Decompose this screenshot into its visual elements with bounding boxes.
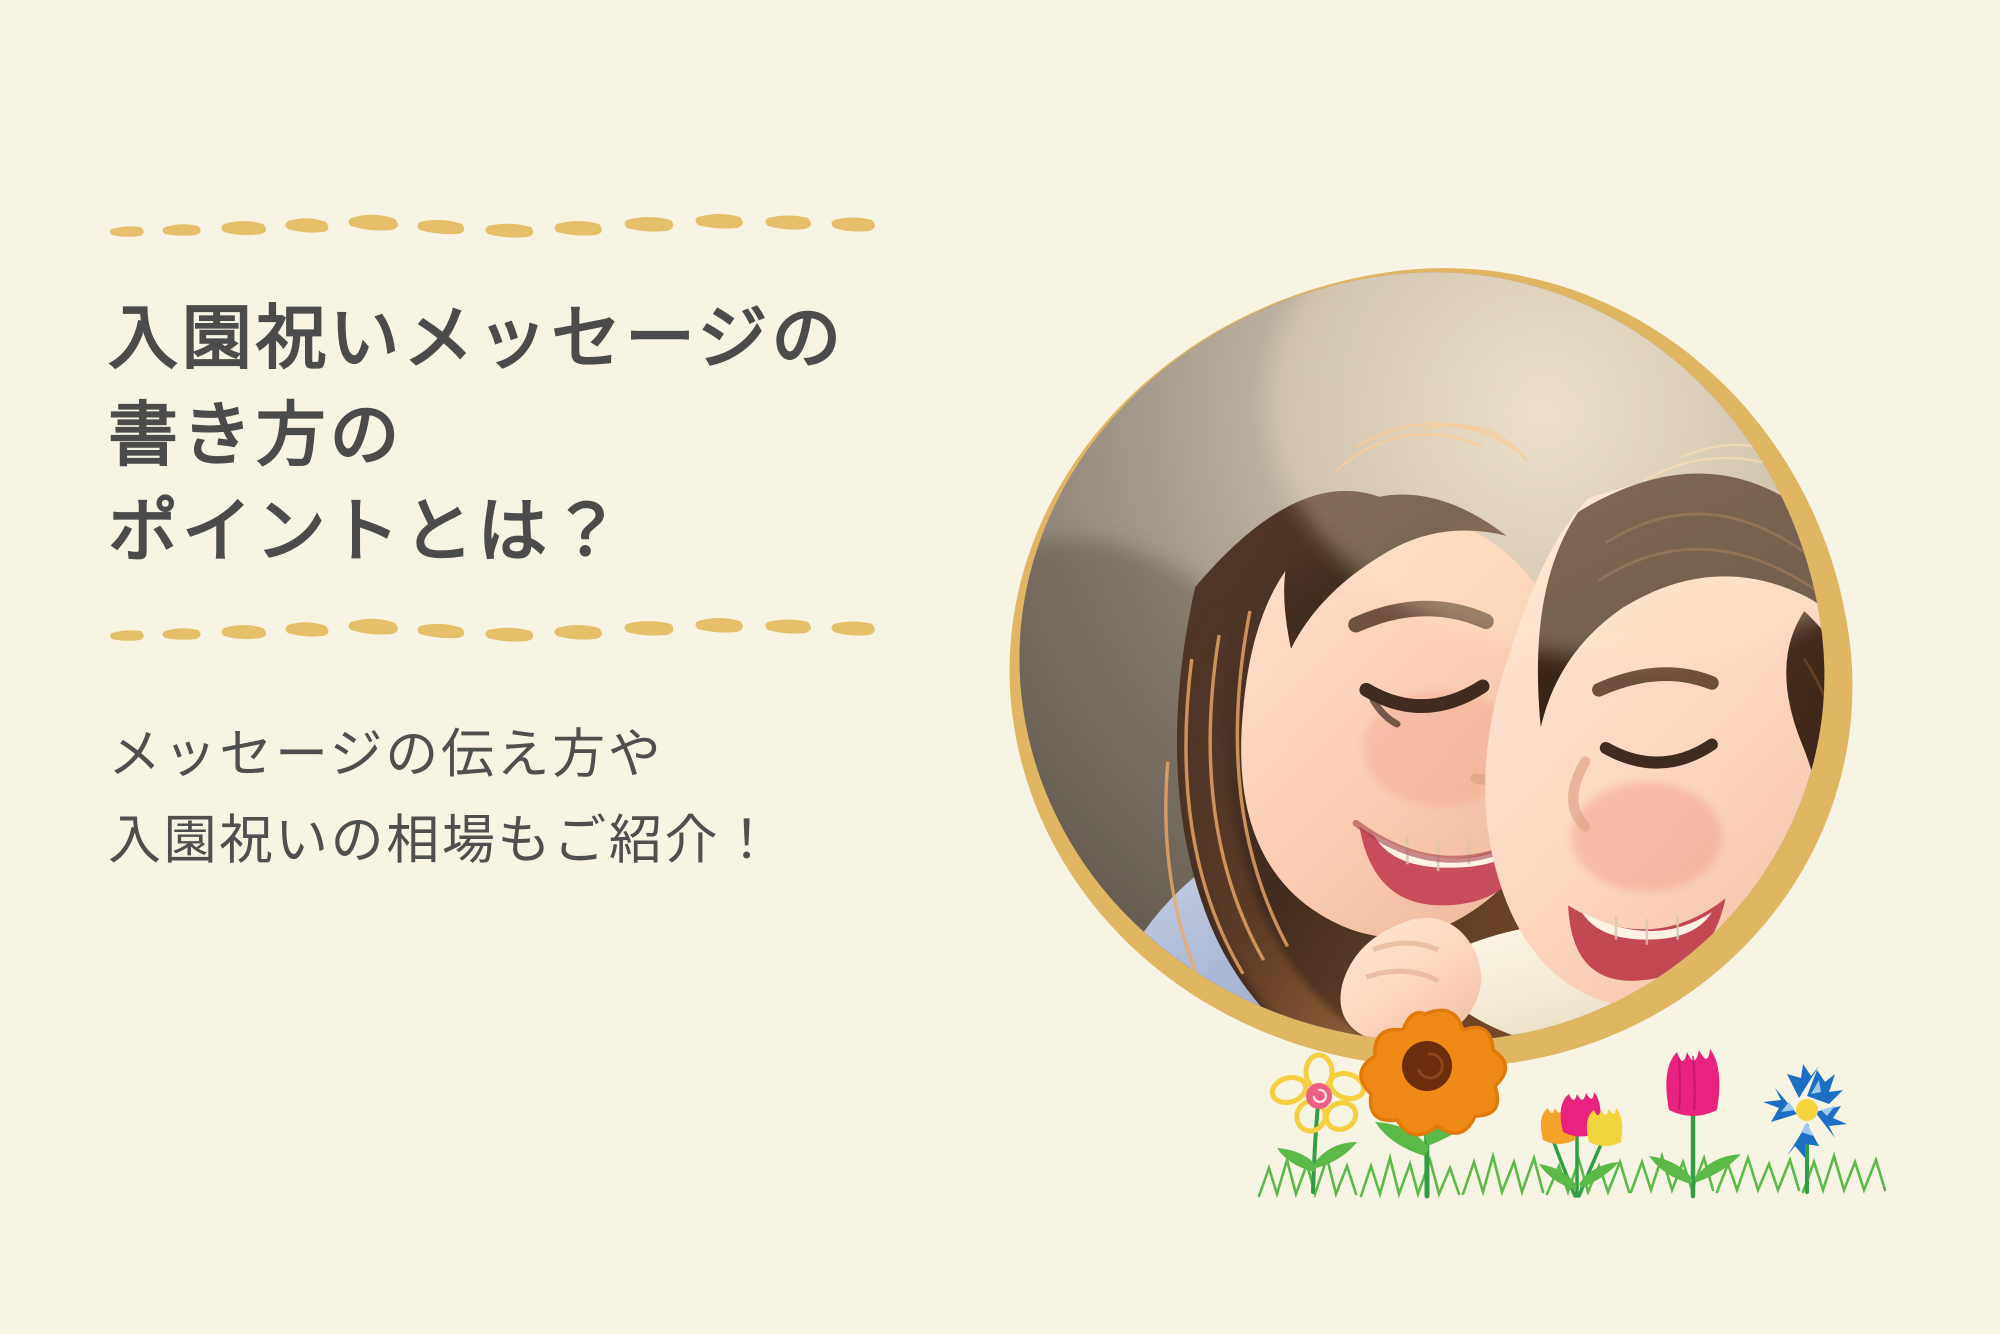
dashed-rule-top-icon	[108, 210, 928, 246]
mother-and-child-photo	[976, 228, 1866, 1090]
flower-meadow-decoration	[1255, 1000, 1895, 1230]
hero-photo	[1010, 270, 1850, 1070]
dashed-rule-bottom-icon	[108, 614, 928, 650]
text-column: 入園祝いメッセージの 書き方の ポイントとは？ メッセージの伝え方や 入園祝いの…	[108, 210, 928, 884]
hero-banner: 入園祝いメッセージの 書き方の ポイントとは？ メッセージの伝え方や 入園祝いの…	[0, 0, 2000, 1334]
page-subtitle: メッセージの伝え方や 入園祝いの相場もご紹介！	[108, 650, 928, 884]
photo-clip	[976, 228, 1866, 1090]
blue-cornflower-flower	[1763, 1064, 1847, 1192]
pink-tulip-flower	[1649, 1049, 1741, 1196]
meadow-icon	[1255, 1000, 1895, 1230]
page-title: 入園祝いメッセージの 書き方の ポイントとは？	[108, 290, 928, 580]
